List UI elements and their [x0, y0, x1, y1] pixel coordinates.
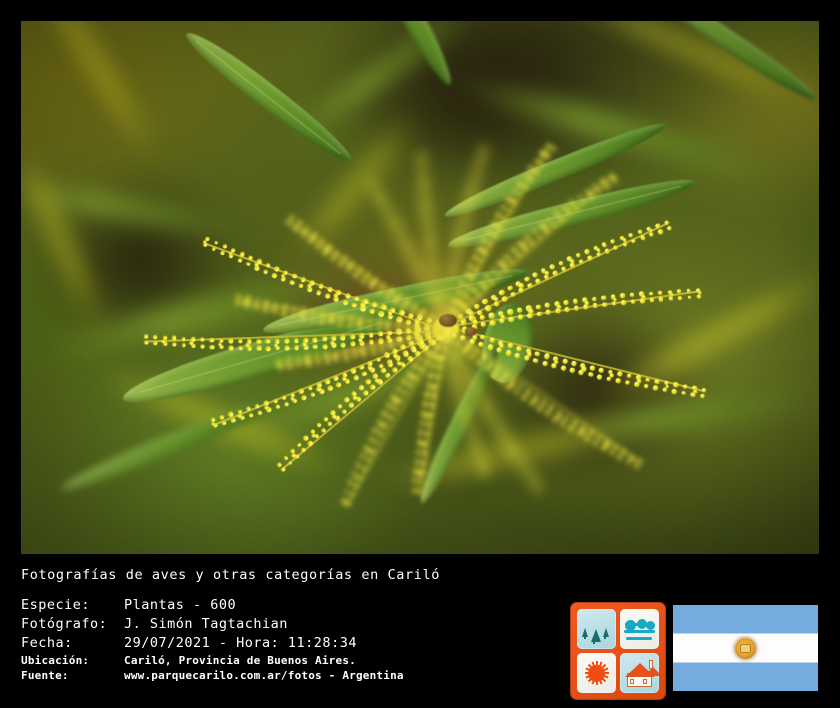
- metadata-row: Ubicación:Cariló, Provincia de Buenos Ai…: [21, 653, 581, 668]
- metadata-value: Cariló, Provincia de Buenos Aires.: [124, 653, 356, 668]
- parque-carilo-logo[interactable]: [570, 602, 666, 700]
- metadata-key: Fuente:: [21, 668, 124, 683]
- metadata-row: Fecha:29/07/2021 - Hora: 11:28:34: [21, 634, 581, 653]
- argentina-flag: [673, 605, 818, 691]
- metadata-row: Fotógrafo:J. Simón Tagtachian: [21, 615, 581, 634]
- metadata-value: 29/07/2021 - Hora: 11:28:34: [124, 634, 357, 653]
- metadata-list: Especie:Plantas - 600Fotógrafo:J. Simón …: [21, 596, 581, 683]
- metadata-row: Fuente:www.parquecarilo.com.ar/fotos - A…: [21, 668, 581, 683]
- metadata-key: Ubicación:: [21, 653, 124, 668]
- metadata-value: Plantas - 600: [124, 596, 236, 615]
- metadata-value: J. Simón Tagtachian: [124, 615, 288, 634]
- metadata-row: Especie:Plantas - 600: [21, 596, 581, 615]
- sun-icon: [577, 653, 616, 693]
- metadata-key: Fecha:: [21, 634, 124, 653]
- metadata-key: Fotógrafo:: [21, 615, 124, 634]
- photo-canvas: [21, 21, 819, 554]
- sun-of-may-icon: [735, 638, 756, 659]
- caption-block: Fotografías de aves y otras categorías e…: [21, 566, 581, 683]
- waves-icon: [620, 609, 659, 649]
- metadata-key: Especie:: [21, 596, 124, 615]
- house-icon: [620, 653, 659, 693]
- pine-trees-icon: [577, 609, 616, 649]
- photo-vignette: [21, 21, 819, 554]
- photograph: [21, 21, 819, 554]
- metadata-value: www.parquecarilo.com.ar/fotos - Argentin…: [124, 668, 404, 683]
- page-title: Fotografías de aves y otras categorías e…: [21, 566, 581, 584]
